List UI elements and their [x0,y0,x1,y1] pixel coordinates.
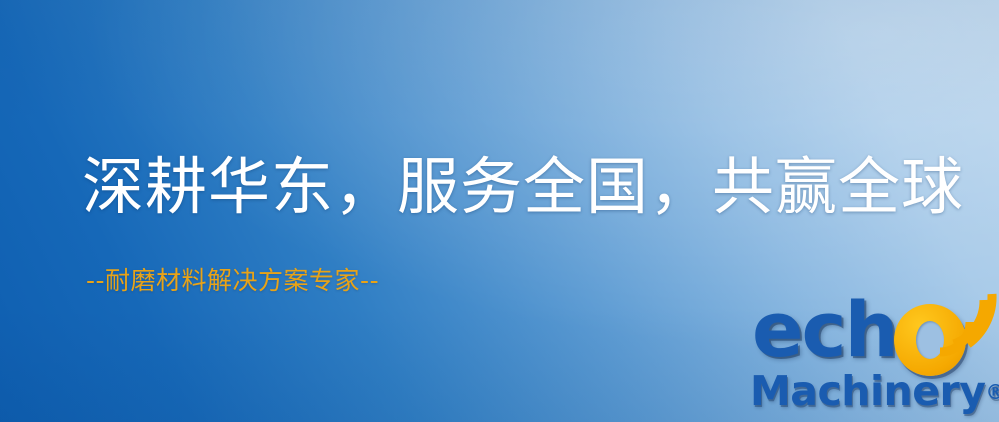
signal-waves-icon [936,290,999,360]
logo-text-machinery: Machinery® [750,368,999,415]
company-logo: ech Machinery® [748,296,996,418]
logo-wordmark: ech [748,296,996,376]
hero-banner: 深耕华东，服务全国，共赢全球 --耐磨材料解决方案专家-- ech Ma [0,0,999,422]
registered-trademark-icon: ® [985,380,999,404]
banner-headline: 深耕华东，服务全国，共赢全球 [82,152,964,222]
logo-text-ech: ech [752,290,897,370]
logo-machinery-word: Machinery [750,367,985,415]
banner-subtitle: --耐磨材料解决方案专家-- [86,266,379,296]
